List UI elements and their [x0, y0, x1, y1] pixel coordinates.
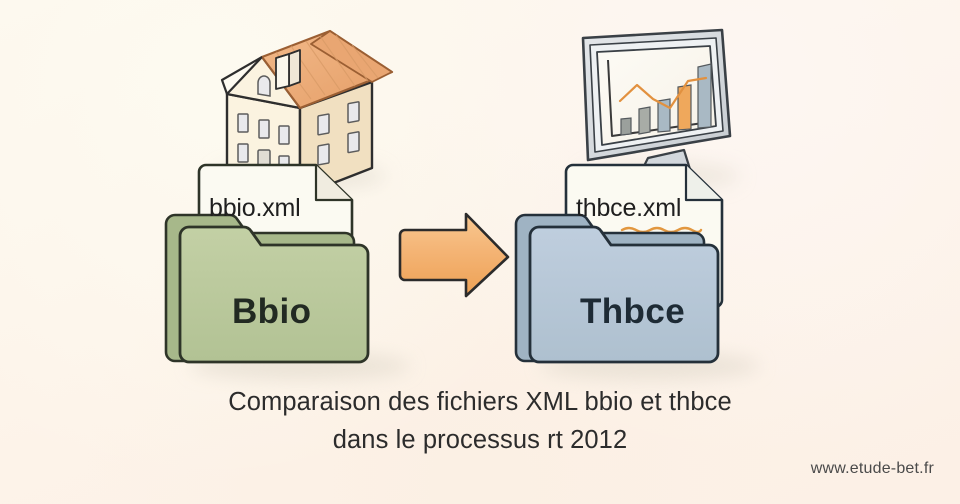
illustration-canvas: bbio.xml thbce.xml Bbio Thbce Comparaiso…	[0, 0, 960, 504]
monitor-chart-icon	[583, 30, 730, 182]
folder-bbio	[166, 215, 368, 362]
folder-bbio-label: Bbio	[232, 292, 311, 332]
chart-bar-5	[698, 64, 711, 128]
folder-thbce-label: Thbce	[580, 292, 685, 332]
scene: bbio.xml thbce.xml Bbio Thbce Comparaiso…	[0, 0, 960, 504]
house-attic-window	[258, 76, 270, 96]
caption-line-1: Comparaison des fichiers XML bbio et thb…	[0, 388, 960, 417]
right-arrow-shape	[400, 214, 508, 296]
right-arrow	[400, 214, 508, 296]
document-thbce-label: thbce.xml	[576, 194, 681, 223]
caption-line-2: dans le processus rt 2012	[0, 426, 960, 455]
document-bbio-label: bbio.xml	[209, 194, 301, 223]
folder-thbce	[516, 215, 718, 362]
chart-bar-1	[621, 118, 631, 135]
watermark: www.etude-bet.fr	[811, 460, 934, 478]
chart-bar-2	[639, 107, 650, 134]
